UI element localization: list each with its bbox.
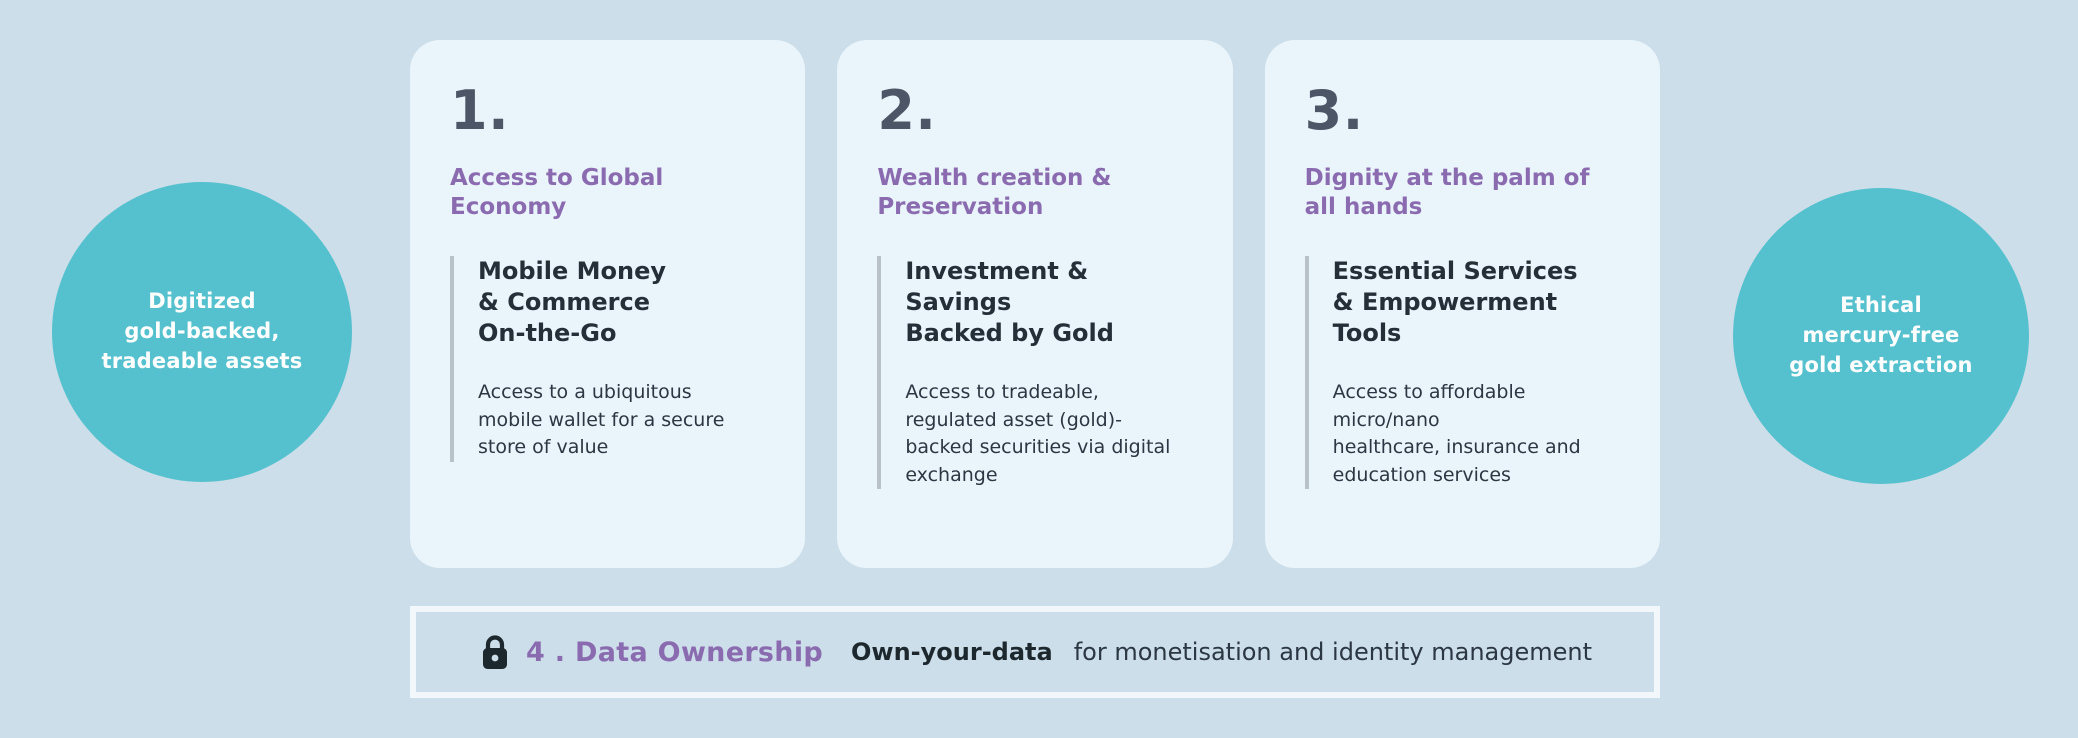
card-1-number: 1.	[450, 84, 765, 138]
card-2-heading: Investment & Savings Backed by Gold	[905, 256, 1192, 349]
card-1-subtitle: Access to Global Economy	[450, 164, 765, 222]
lock-icon	[478, 633, 512, 671]
card-2-number: 2.	[877, 84, 1192, 138]
ethical-extraction-circle: Ethical mercury-free gold extraction	[1733, 188, 2029, 484]
digitized-gold-circle-label: Digitized gold-backed, tradeable assets	[102, 287, 303, 376]
card-2-description: Access to tradeable, regulated asset (go…	[905, 379, 1192, 489]
card-2-subtitle: Wealth creation & Preservation	[877, 164, 1192, 222]
pillar-card-group: 1. Access to Global Economy Mobile Money…	[410, 40, 1660, 570]
data-ownership-bar[interactable]: 4 . Data Ownership Own-your-data for mon…	[410, 606, 1660, 698]
card-1-body: Mobile Money & Commerce On-the-Go Access…	[450, 256, 765, 462]
data-ownership-description: for monetisation and identity management	[1074, 638, 1592, 666]
card-2-body: Investment & Savings Backed by Gold Acce…	[877, 256, 1192, 489]
digitized-gold-circle: Digitized gold-backed, tradeable assets	[52, 182, 352, 482]
card-3-description: Access to affordable micro/nano healthca…	[1333, 379, 1620, 489]
pillar-card-1[interactable]: 1. Access to Global Economy Mobile Money…	[410, 40, 805, 568]
data-ownership-label: 4 . Data Ownership	[526, 637, 823, 668]
card-3-body: Essential Services & Empowerment Tools A…	[1305, 256, 1620, 489]
card-1-heading: Mobile Money & Commerce On-the-Go	[478, 256, 765, 349]
pillar-card-2[interactable]: 2. Wealth creation & Preservation Invest…	[837, 40, 1232, 568]
card-3-subtitle: Dignity at the palm of all hands	[1305, 164, 1620, 222]
pillar-card-3[interactable]: 3. Dignity at the palm of all hands Esse…	[1265, 40, 1660, 568]
data-ownership-content: 4 . Data Ownership Own-your-data for mon…	[478, 633, 1592, 671]
card-3-number: 3.	[1305, 84, 1620, 138]
card-1-description: Access to a ubiquitous mobile wallet for…	[478, 379, 765, 462]
ethical-extraction-circle-label: Ethical mercury-free gold extraction	[1789, 291, 1972, 380]
own-your-data-text: Own-your-data	[851, 638, 1053, 666]
infographic-stage: Digitized gold-backed, tradeable assets …	[0, 0, 2078, 738]
card-3-heading: Essential Services & Empowerment Tools	[1333, 256, 1620, 349]
